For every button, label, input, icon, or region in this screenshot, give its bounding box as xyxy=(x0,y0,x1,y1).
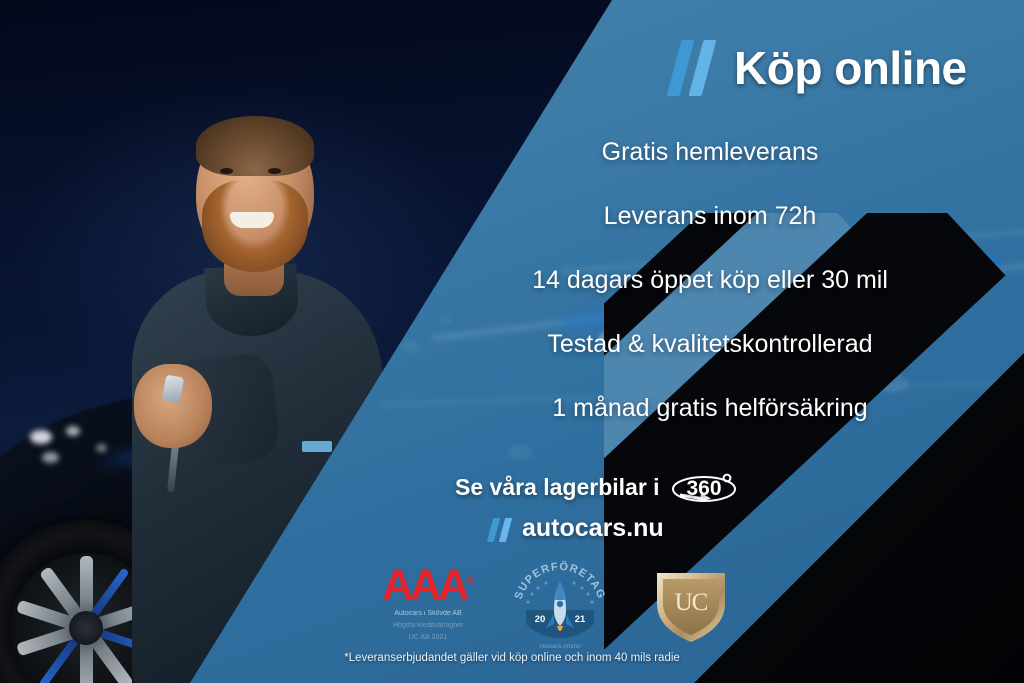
aaa-issuer-line: UC AB 2021 xyxy=(368,633,488,643)
double-slash-icon xyxy=(672,40,718,96)
website-link[interactable]: autocars.nu xyxy=(489,514,738,543)
aaa-credit-rating-logo: AAA® Autocars i Skövde AB Högsta kreditv… xyxy=(368,564,488,643)
registered-trademark-icon: ® xyxy=(466,576,473,587)
uc-mark: UC xyxy=(675,589,708,616)
svg-text:360: 360 xyxy=(686,477,721,500)
award-year-left: 20 xyxy=(535,614,546,625)
uc-shield-logo: UC xyxy=(650,564,732,646)
disclaimer-text: *Leveranserbjudandet gäller vid köp onli… xyxy=(0,652,1024,664)
aaa-mark: AAA® xyxy=(368,564,488,607)
360-badge-icon: 360 xyxy=(670,468,738,506)
banner-content: Köp online Gratis hemleverans Leverans i… xyxy=(0,0,1024,683)
superforetag-award-logo: SUPERFÖRETAG xyxy=(510,558,610,650)
benefit-item: Testad & kvalitetskontrollerad xyxy=(430,332,990,357)
benefit-item: 14 dagars öppet köp eller 30 mil xyxy=(430,268,990,293)
award-year-right: 21 xyxy=(575,614,586,625)
page-title: Köp online xyxy=(734,41,967,95)
cta-headline: Se våra lagerbilar i 360 xyxy=(455,468,738,506)
aaa-company-name: Autocars i Skövde AB xyxy=(368,609,488,619)
headline: Köp online xyxy=(672,40,967,96)
rocket-icon xyxy=(546,582,574,631)
benefits-list: Gratis hemleverans Leverans inom 72h 14 … xyxy=(430,140,990,460)
award-subtitle: Veckans Affärer xyxy=(539,644,581,650)
cta-text: Se våra lagerbilar i xyxy=(455,474,660,501)
aaa-rating-line: Högsta kreditvärdighet xyxy=(368,621,488,631)
benefit-item: Gratis hemleverans xyxy=(430,140,990,165)
benefit-item: 1 månad gratis helförsäkring xyxy=(430,396,990,421)
benefit-item: Leverans inom 72h xyxy=(430,204,990,229)
promo-banner: Köp online Gratis hemleverans Leverans i… xyxy=(0,0,1024,683)
website-url: autocars.nu xyxy=(522,514,664,543)
double-slash-small-icon xyxy=(489,516,515,542)
cta-block[interactable]: Se våra lagerbilar i 360 autocars.nu xyxy=(455,468,738,543)
certification-logos: AAA® Autocars i Skövde AB Högsta kreditv… xyxy=(360,558,740,650)
